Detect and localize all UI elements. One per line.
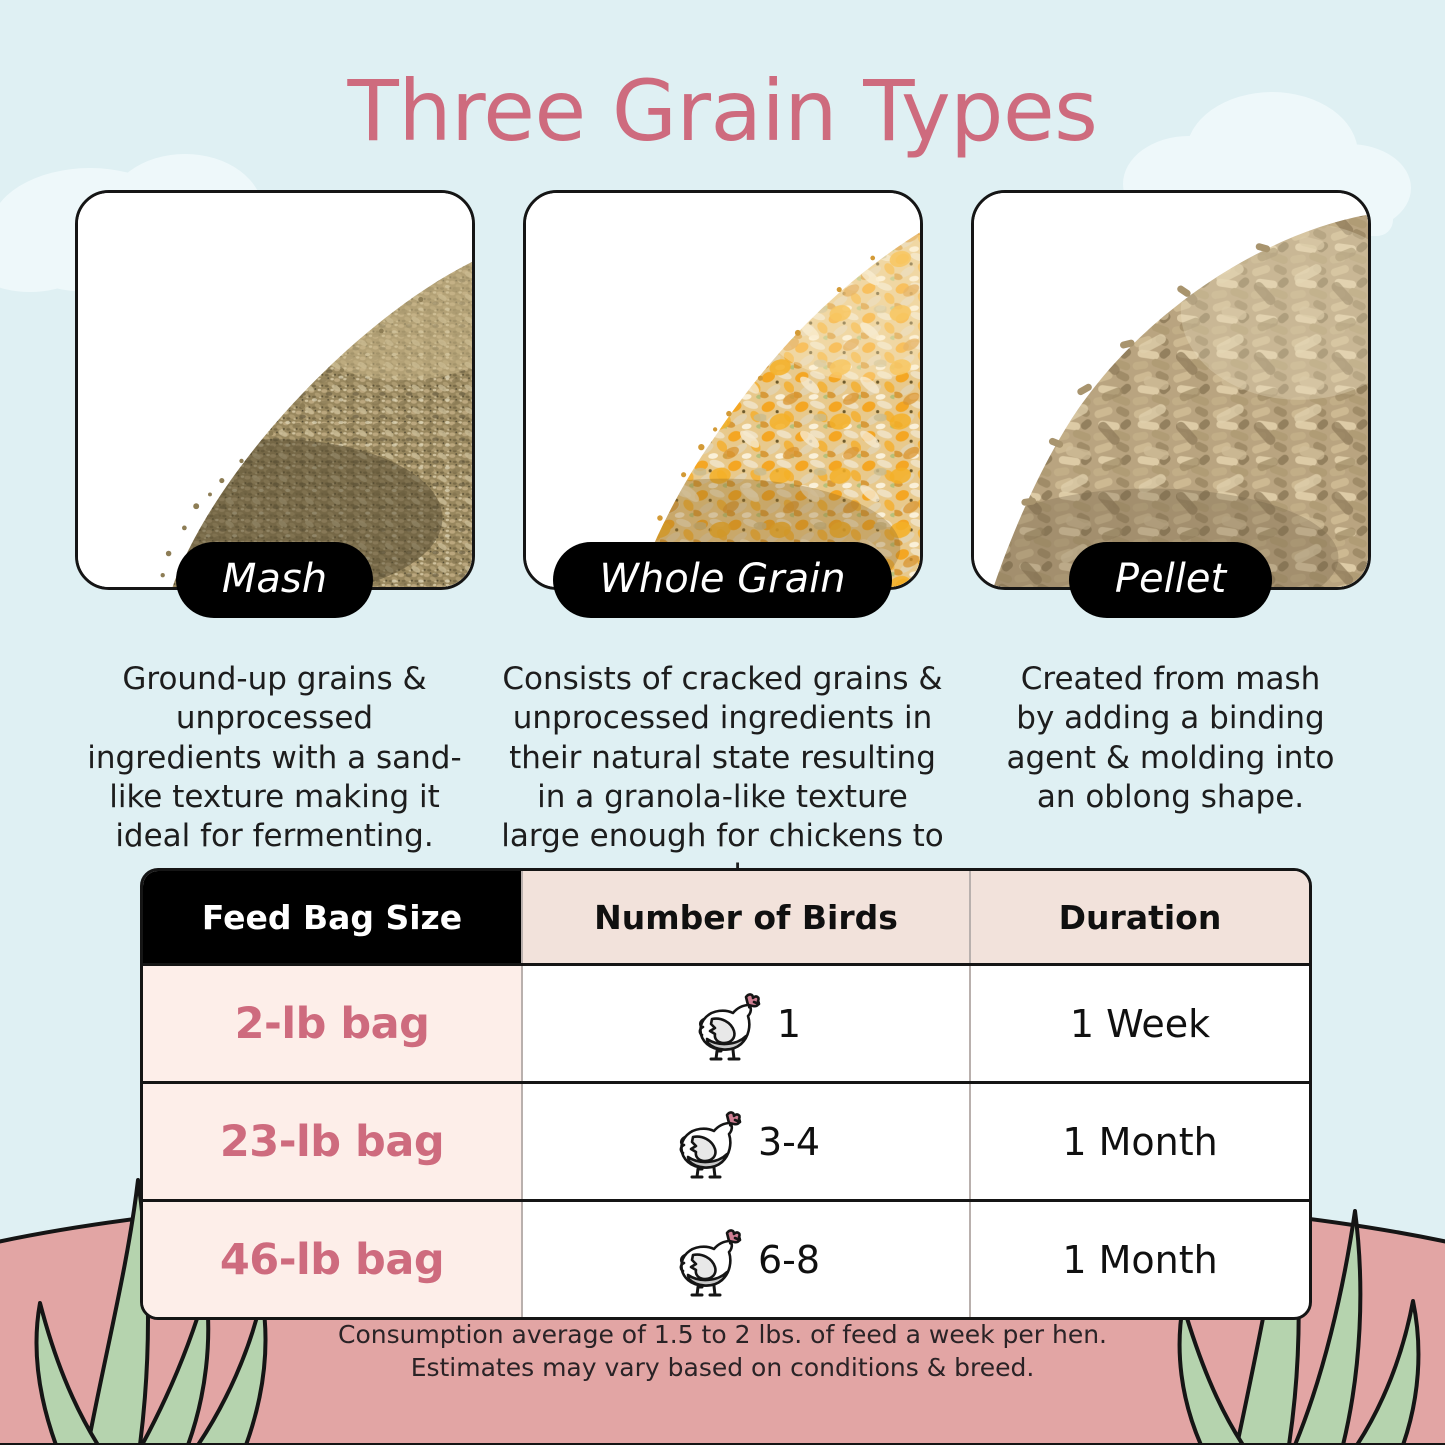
grain-card-pellet: Pellet Created from mash by adding a bin… bbox=[971, 190, 1371, 817]
table-row: 23-lb bag bbox=[143, 1081, 1309, 1199]
grain-description-whole-grain: Consists of cracked grains & unprocessed… bbox=[497, 660, 949, 896]
table-header-label: Feed Bag Size bbox=[202, 898, 462, 937]
bag-size-label: 23-lb bag bbox=[220, 1117, 444, 1167]
grain-label-whole-grain: Whole Grain bbox=[553, 542, 891, 618]
hen-icon bbox=[691, 987, 763, 1061]
bird-count-label: 1 bbox=[777, 1002, 801, 1046]
bird-count-label: 3-4 bbox=[758, 1120, 820, 1164]
table-header-cell-number-of-birds: Number of Birds bbox=[521, 871, 971, 963]
bag-size-label: 46-lb bag bbox=[220, 1235, 444, 1285]
grain-label-pellet: Pellet bbox=[1069, 542, 1272, 618]
bag-size-label: 2-lb bag bbox=[235, 999, 430, 1049]
table-cell-birds: 3-4 bbox=[521, 1084, 971, 1199]
hen-icon bbox=[672, 1105, 744, 1179]
table-cell-duration: 1 Week bbox=[971, 966, 1309, 1081]
mash-photo-frame bbox=[75, 190, 475, 590]
table-row: 2-lb bag bbox=[143, 963, 1309, 1081]
pellet-photo-frame bbox=[971, 190, 1371, 590]
table-cell-bag-size: 23-lb bag bbox=[143, 1084, 521, 1199]
grain-label-mash: Mash bbox=[176, 542, 373, 618]
table-cell-duration: 1 Month bbox=[971, 1084, 1309, 1199]
table-header-row: Feed Bag Size Number of Birds Duration bbox=[143, 871, 1309, 963]
mash-photo bbox=[78, 193, 472, 587]
table-header-label: Duration bbox=[1059, 898, 1222, 937]
footnote: Consumption average of 1.5 to 2 lbs. of … bbox=[0, 1318, 1445, 1384]
duration-label: 1 Month bbox=[1062, 1238, 1217, 1282]
table-cell-bag-size: 46-lb bag bbox=[143, 1202, 521, 1317]
grain-card-mash: Mash Ground-up grains & unprocessed ingr… bbox=[75, 190, 475, 857]
pellet-photo bbox=[974, 193, 1368, 587]
table-header-cell-feed-bag-size: Feed Bag Size bbox=[143, 871, 521, 963]
bird-count-label: 6-8 bbox=[758, 1238, 820, 1282]
grain-cards: Mash Ground-up grains & unprocessed ingr… bbox=[0, 190, 1445, 896]
duration-label: 1 Month bbox=[1062, 1120, 1217, 1164]
whole-grain-photo-frame bbox=[523, 190, 923, 590]
table-cell-duration: 1 Month bbox=[971, 1202, 1309, 1317]
grain-description-pellet: Created from mash by adding a binding ag… bbox=[1001, 660, 1341, 817]
table-cell-birds: 6-8 bbox=[521, 1202, 971, 1317]
duration-label: 1 Week bbox=[1070, 1002, 1210, 1046]
table-cell-birds: 1 bbox=[521, 966, 971, 1081]
footnote-line-1: Consumption average of 1.5 to 2 lbs. of … bbox=[0, 1318, 1445, 1351]
whole-grain-photo bbox=[526, 193, 920, 587]
table-cell-bag-size: 2-lb bag bbox=[143, 966, 521, 1081]
grain-card-whole-grain: Whole Grain Consists of cracked grains &… bbox=[523, 190, 923, 896]
table-header-label: Number of Birds bbox=[594, 898, 898, 937]
feed-bag-table: Feed Bag Size Number of Birds Duration 2… bbox=[140, 868, 1312, 1320]
hen-icon bbox=[672, 1223, 744, 1297]
grain-description-mash: Ground-up grains & unprocessed ingredien… bbox=[86, 660, 464, 857]
page-title: Three Grain Types bbox=[0, 62, 1445, 160]
table-header-cell-duration: Duration bbox=[971, 871, 1309, 963]
footnote-line-2: Estimates may vary based on conditions &… bbox=[0, 1351, 1445, 1384]
table-row: 46-lb bag bbox=[143, 1199, 1309, 1317]
